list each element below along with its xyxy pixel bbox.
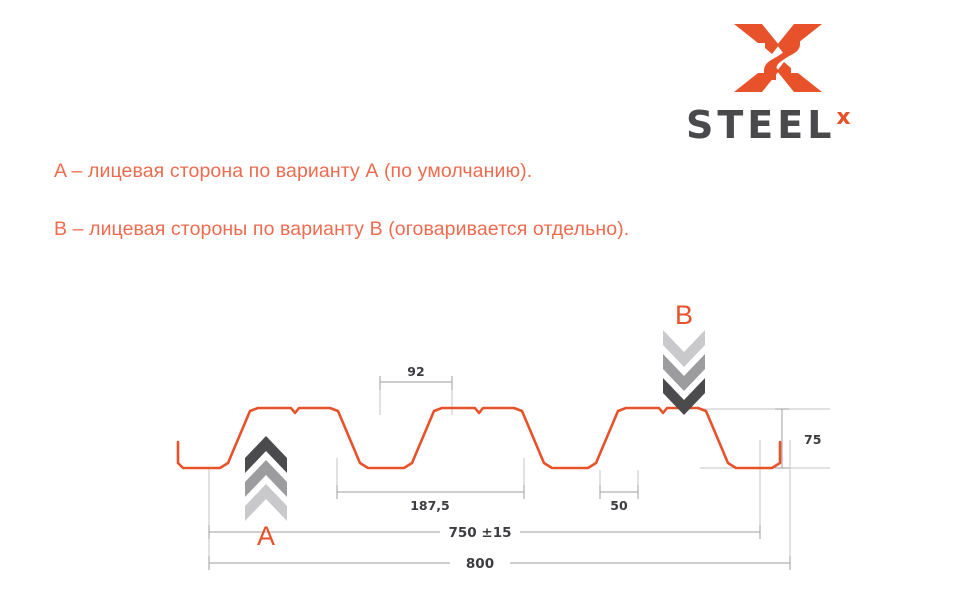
dimension-valley-width: 50 — [610, 498, 628, 513]
profile-outline — [178, 408, 780, 468]
dimension-useful-width: 750 ±15 — [449, 525, 512, 541]
logo-steel-text: STEEL — [686, 106, 835, 144]
profile-cross-section-diagram: A B 92 187,5 50 75 750 ±15 800 — [0, 280, 970, 597]
dimension-pitch: 187,5 — [410, 498, 450, 513]
brand-logo: STEEL x — [686, 18, 901, 143]
side-label-a: A — [257, 521, 275, 551]
legend-line-variant-a: A – лицевая сторона по варианту А (по ум… — [54, 160, 532, 183]
dimension-height: 75 — [804, 432, 821, 447]
dimension-rib-top-width: 92 — [407, 364, 424, 379]
chevron-up-stack-icon — [245, 436, 287, 521]
chevron-down-stack-icon — [663, 330, 705, 415]
logo-x-superscript: x — [836, 107, 850, 129]
dimension-extension-lines — [209, 376, 830, 568]
legend-line-variant-b: B – лицевая стороны по варианту B (огова… — [54, 218, 629, 241]
dimension-overall-width: 800 — [466, 556, 494, 572]
side-label-b: B — [675, 300, 693, 330]
steelx-x-logo-icon — [732, 18, 824, 98]
logo-wordmark: STEEL x — [686, 106, 901, 146]
